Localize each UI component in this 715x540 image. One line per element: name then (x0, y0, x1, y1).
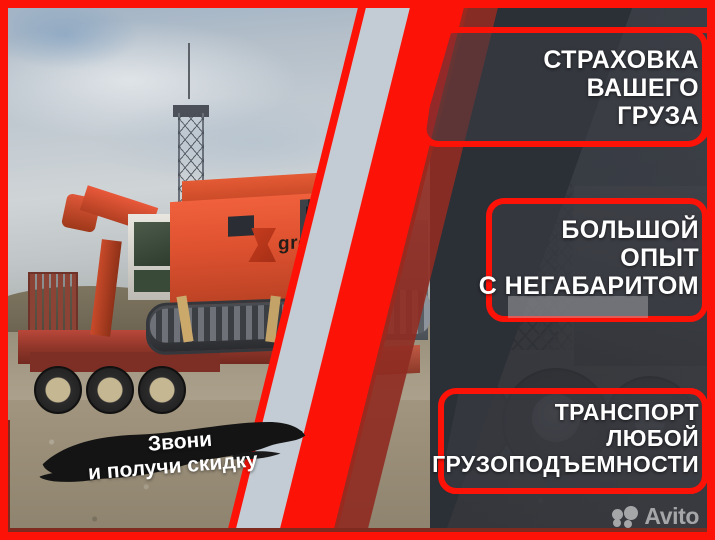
callout-line: ВАШЕГО (419, 74, 699, 102)
trailer-wheel (138, 366, 186, 414)
callout-line: ГРУЗОПОДЪЕМНОСТИ (419, 452, 699, 478)
rig-access-hatch (228, 215, 254, 237)
callout-line: СТРАХОВКА (419, 46, 699, 74)
frame-left-lower-edge (0, 420, 10, 540)
callout-text-experience: БОЛЬШОЙ ОПЫТ С НЕГАБАРИТОМ (439, 216, 699, 300)
callout-text-insurance: СТРАХОВКА ВАШЕГО ГРУЗА (419, 46, 699, 130)
callout-line: ЛЮБОЙ (419, 426, 699, 452)
trailer-wheel (34, 366, 82, 414)
callout-line: С НЕГАБАРИТОМ (439, 272, 699, 300)
callout-line: БОЛЬШОЙ (439, 216, 699, 244)
discount-line-2: и получи скидку (87, 448, 258, 485)
frame-bottom-edge (0, 528, 715, 540)
avito-logo-icon (612, 506, 638, 528)
trailer-headboard (28, 272, 78, 338)
callout-line: ОПЫТ (439, 244, 699, 272)
trailer-wheel (86, 366, 134, 414)
advertisement-banner: group ОЗАРД СТРАХОВКА ВАШЕГО (0, 0, 715, 540)
callout-line: ТРАНСПОРТ (419, 400, 699, 426)
callout-text-capacity: ТРАНСПОРТ ЛЮБОЙ ГРУЗОПОДЪЕМНОСТИ (419, 400, 699, 477)
callout-line: ГРУЗА (419, 102, 699, 130)
avito-watermark: Avito (612, 503, 699, 530)
avito-brand-text: Avito (644, 503, 699, 530)
